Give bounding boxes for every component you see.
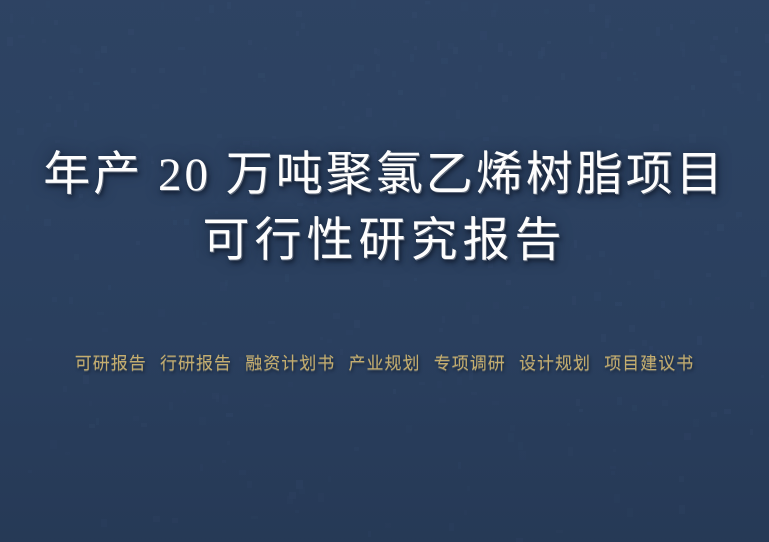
keyword-item: 融资计划书 bbox=[245, 354, 335, 373]
keyword-separator bbox=[151, 354, 156, 373]
keyword-item: 项目建议书 bbox=[604, 354, 694, 373]
keyword-separator bbox=[236, 354, 241, 373]
document-cover-page: 年产 20 万吨聚氯乙烯树脂项目 可行性研究报告 可研报告 行研报告 融资计划书… bbox=[0, 0, 769, 542]
keyword-list: 可研报告 行研报告 融资计划书 产业规划 专项调研 设计规划 项目建议书 bbox=[71, 352, 699, 376]
keyword-separator bbox=[595, 354, 600, 373]
title-line-1: 年产 20 万吨聚氯乙烯树脂项目 bbox=[0, 142, 769, 208]
cover-title: 年产 20 万吨聚氯乙烯树脂项目 可行性研究报告 bbox=[0, 142, 769, 274]
keyword-item: 可研报告 bbox=[75, 354, 147, 373]
keyword-separator bbox=[339, 354, 344, 373]
keyword-separator bbox=[425, 354, 430, 373]
keyword-item: 行研报告 bbox=[160, 354, 232, 373]
keyword-item: 设计规划 bbox=[519, 354, 591, 373]
keyword-item: 产业规划 bbox=[349, 354, 421, 373]
title-line-2: 可行性研究报告 bbox=[0, 208, 769, 274]
cover-keywords: 可研报告 行研报告 融资计划书 产业规划 专项调研 设计规划 项目建议书 bbox=[0, 352, 769, 376]
cover-content: 年产 20 万吨聚氯乙烯树脂项目 可行性研究报告 可研报告 行研报告 融资计划书… bbox=[0, 0, 769, 542]
keyword-separator bbox=[510, 354, 515, 373]
keyword-item: 专项调研 bbox=[434, 354, 506, 373]
